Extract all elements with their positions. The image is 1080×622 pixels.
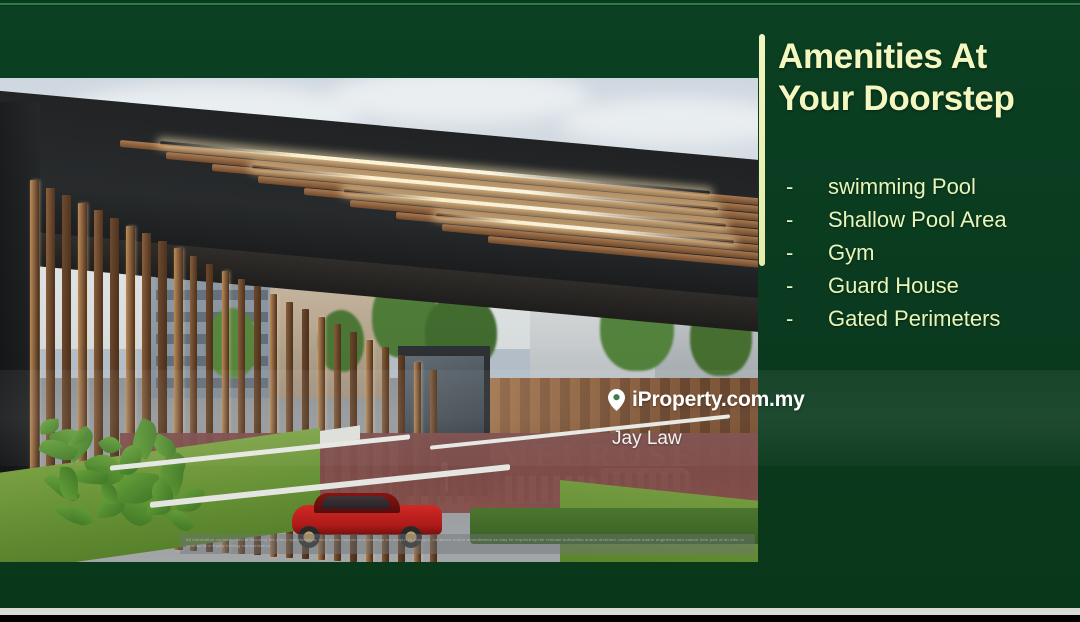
bottom-light-strip bbox=[0, 608, 1080, 615]
amenity-label: Gym bbox=[828, 236, 1080, 269]
page-title: Amenities At Your Doorstep bbox=[778, 36, 1074, 120]
bullet-dash-icon: - bbox=[786, 269, 828, 302]
project-render-image: MELROSE All bbox=[0, 78, 758, 562]
shrub-leaf bbox=[69, 504, 94, 530]
watermark-brand: iProperty.com.my bbox=[608, 388, 805, 412]
foreground-shrub bbox=[40, 413, 210, 533]
presentation-slide: MELROSE All bbox=[0, 0, 1080, 622]
bullet-dash-icon: - bbox=[786, 236, 828, 269]
bullet-dash-icon: - bbox=[786, 302, 828, 335]
bottom-letterbox bbox=[0, 615, 1080, 622]
shrub-leaf bbox=[101, 484, 117, 505]
bullet-dash-icon: - bbox=[786, 170, 828, 203]
location-pin-icon bbox=[608, 389, 625, 411]
shrub-leaf bbox=[119, 445, 142, 476]
amenity-label: Shallow Pool Area bbox=[828, 203, 1080, 236]
watermark-brand-label: iProperty.com.my bbox=[632, 388, 805, 412]
amenity-item: -Guard House bbox=[786, 269, 1080, 302]
vertical-accent-divider bbox=[759, 34, 765, 266]
amenity-item: -swimming Pool bbox=[786, 170, 1080, 203]
watermark-agent-name: Jay Law bbox=[612, 428, 682, 450]
amenity-label: swimming Pool bbox=[828, 170, 1080, 203]
headline-line-1: Amenities At bbox=[778, 37, 987, 76]
amenity-label: Guard House bbox=[828, 269, 1080, 302]
amenity-label: Gated Perimeters bbox=[828, 302, 1080, 335]
headline-line-2: Your Doorstep bbox=[778, 78, 1074, 120]
amenity-item: -Gym bbox=[786, 236, 1080, 269]
amenity-item: -Gated Perimeters bbox=[786, 302, 1080, 335]
amenities-list: -swimming Pool-Shallow Pool Area-Gym-Gua… bbox=[786, 170, 1080, 335]
disclaimer-text: All information contained herein includi… bbox=[180, 534, 755, 554]
bullet-dash-icon: - bbox=[786, 203, 828, 236]
car-glass bbox=[322, 496, 390, 509]
amenity-item: -Shallow Pool Area bbox=[786, 203, 1080, 236]
